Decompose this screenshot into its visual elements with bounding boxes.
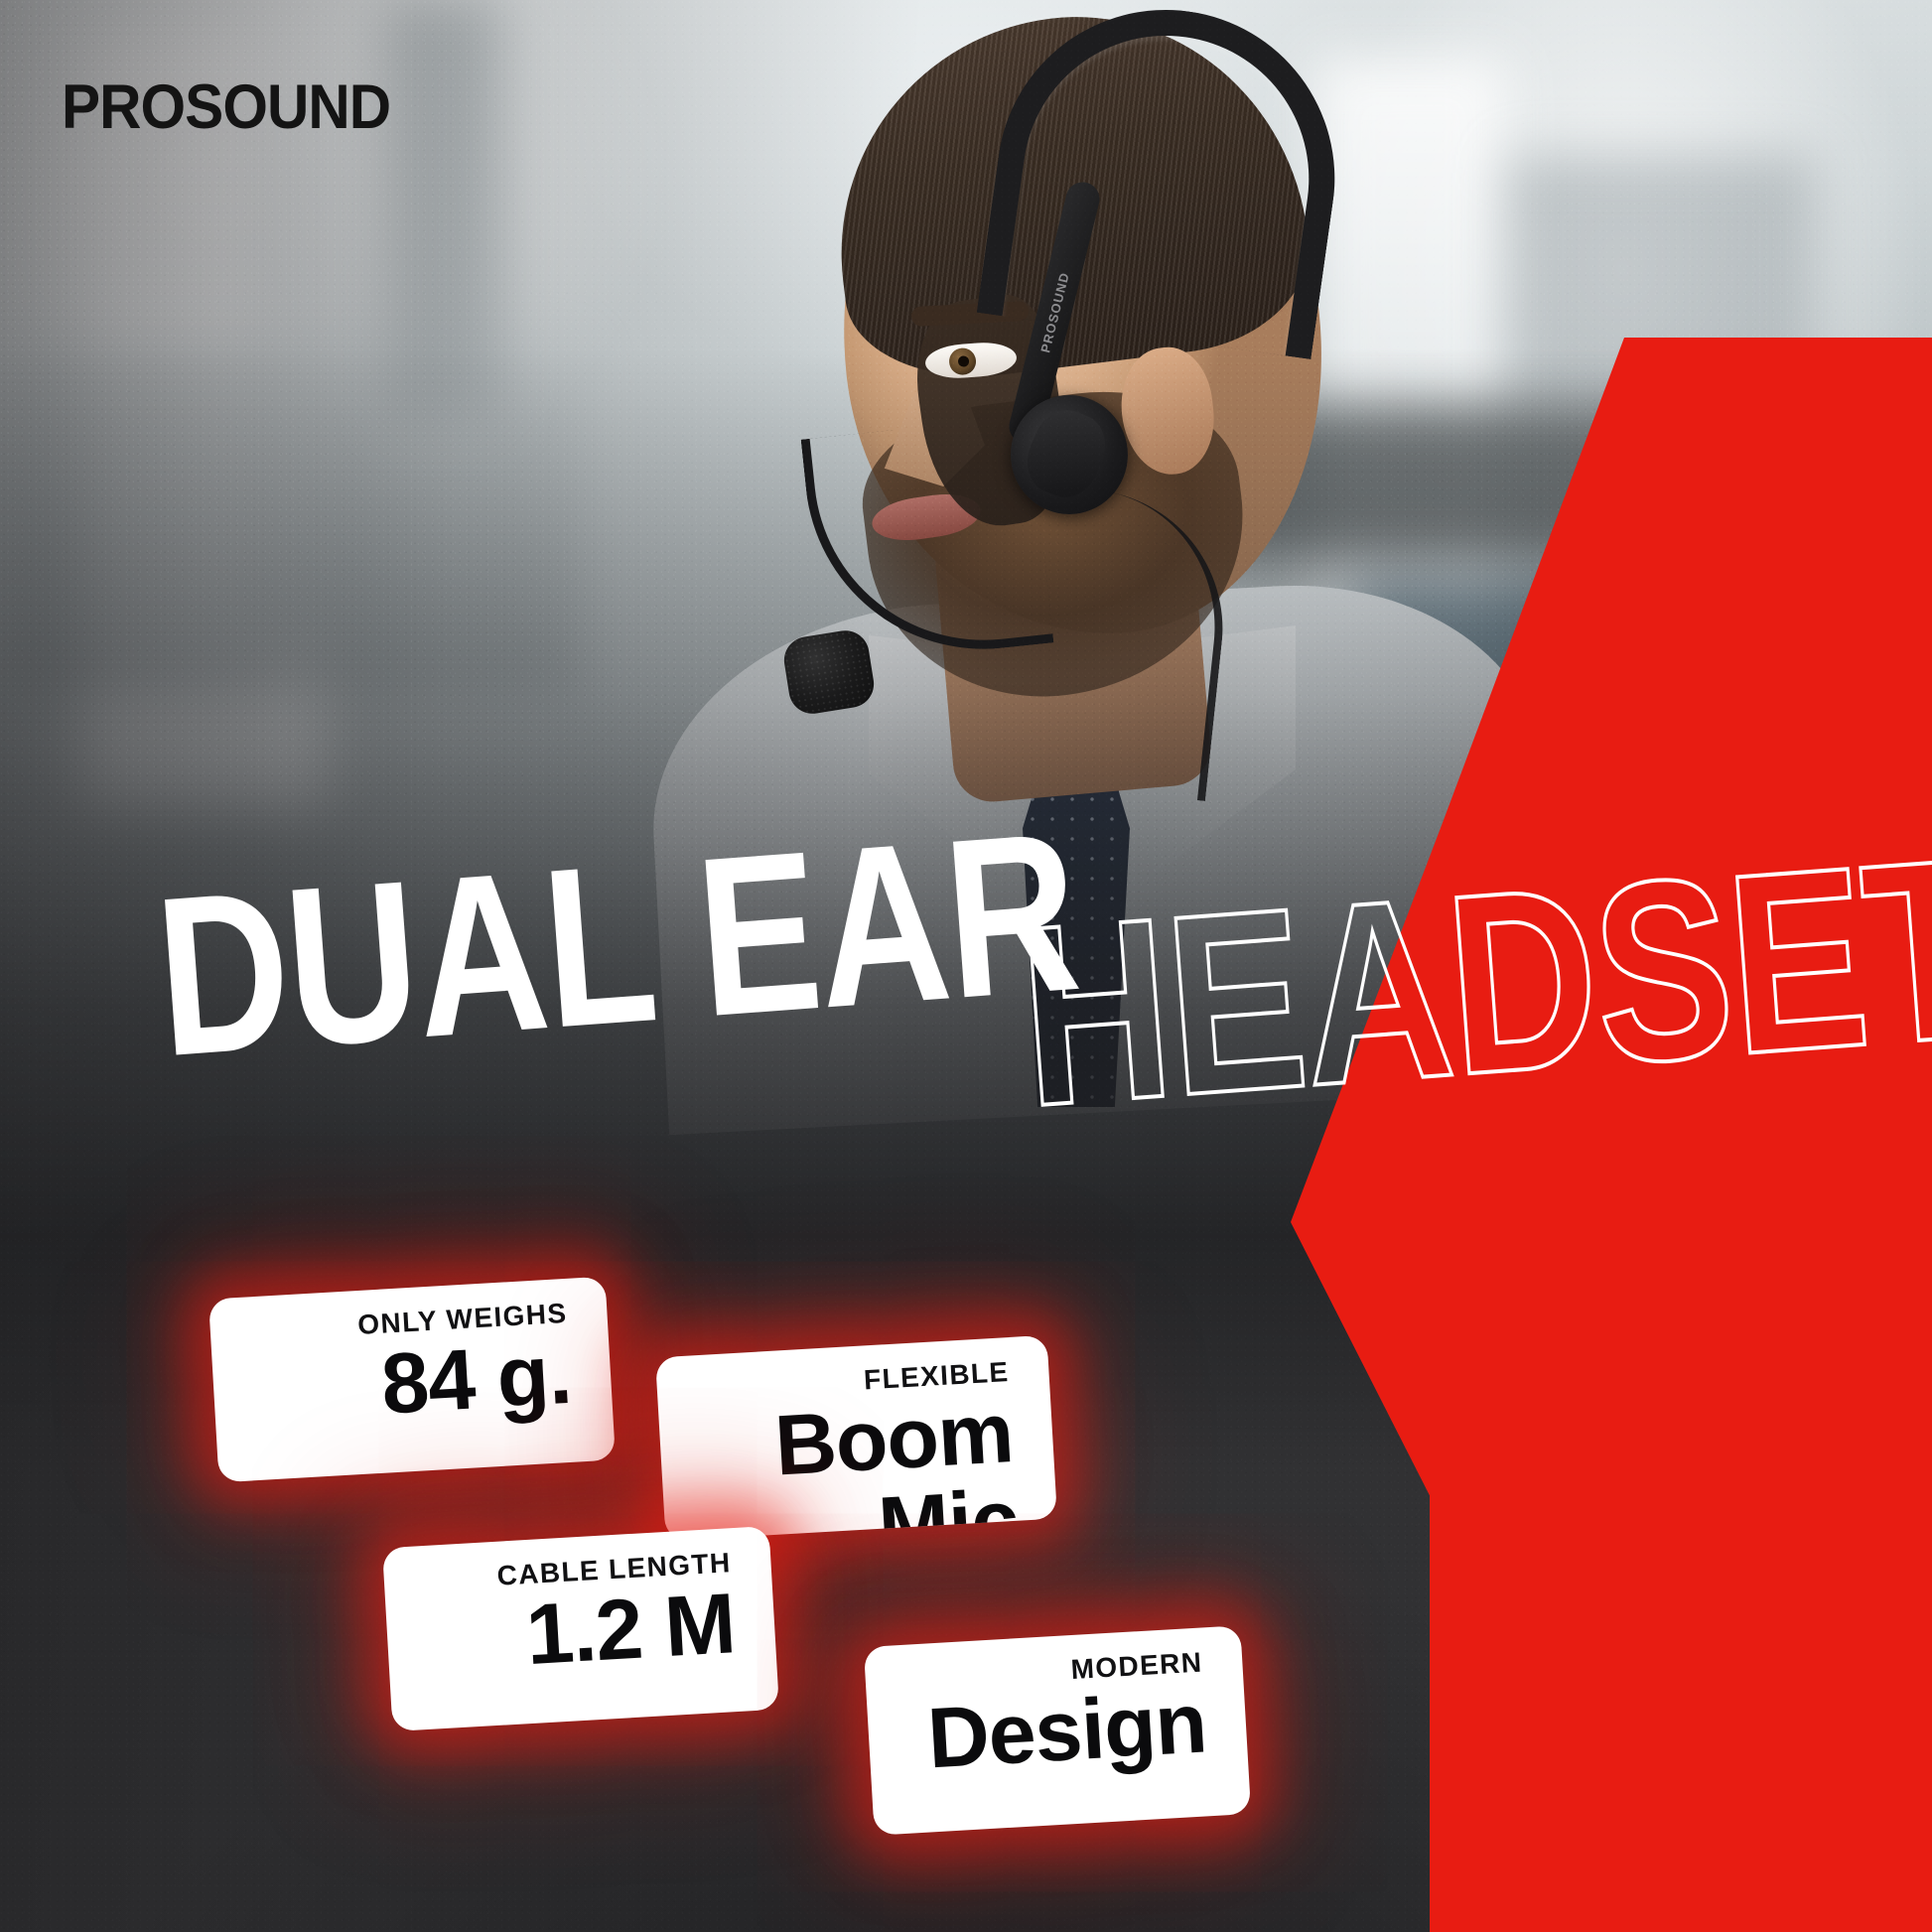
- feature-card: MODERN Design: [864, 1625, 1251, 1836]
- feature-card-value: 1.2 M: [425, 1581, 738, 1685]
- feature-card-value: Boom Mic: [698, 1390, 1021, 1541]
- brand-logo: PROSOUND: [62, 71, 390, 143]
- feature-card: ONLY WEIGHS 84 g.: [208, 1277, 616, 1483]
- headline-outline: HEADSET: [1014, 829, 1932, 1135]
- feature-card-value: Design: [906, 1680, 1209, 1784]
- headline-primary: DUAL EAR: [151, 808, 1083, 1083]
- feature-card-value: 84 g.: [251, 1331, 574, 1437]
- feature-card: CABLE LENGTH 1.2 M: [382, 1526, 779, 1731]
- product-promo-poster: PROSOUND PROSOUND DUAL EAR HEADSET ONLY …: [0, 0, 1932, 1932]
- feature-card: FLEXIBLE Boom Mic: [655, 1335, 1057, 1541]
